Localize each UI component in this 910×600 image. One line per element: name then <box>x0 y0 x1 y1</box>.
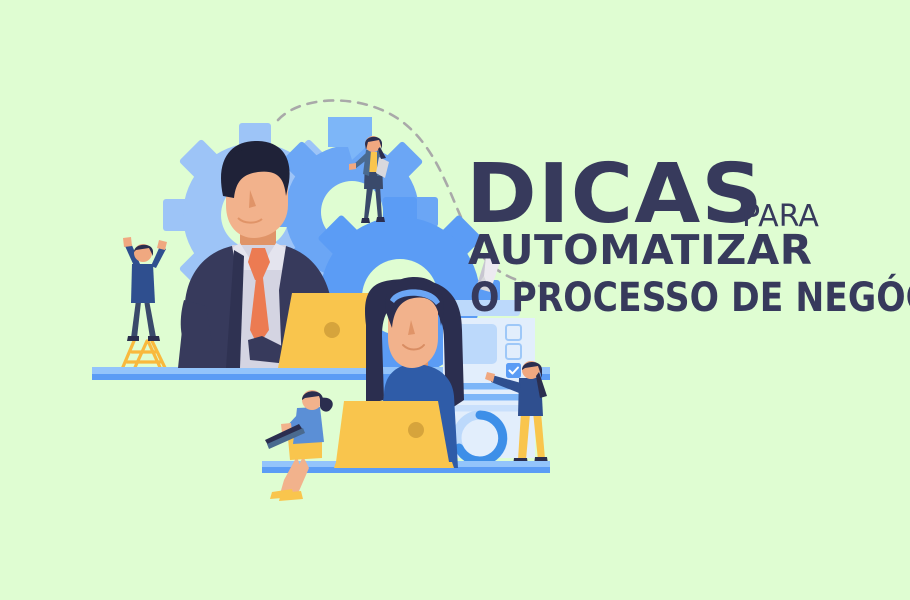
checkbox-3-checked <box>506 363 521 378</box>
laptop-businessman <box>278 293 372 368</box>
panel-bar-3 <box>449 405 521 412</box>
laptop-woman <box>334 401 454 468</box>
headline-line-2: AUTOMATIZAR <box>468 230 812 271</box>
poster-canvas: DICAS PARA AUTOMATIZAR O PROCESSO DE NEG… <box>0 0 910 600</box>
headline-line-1: DICAS <box>466 154 764 236</box>
headline-line-3: O PROCESSO DE NEGÓCIO <box>470 278 910 318</box>
